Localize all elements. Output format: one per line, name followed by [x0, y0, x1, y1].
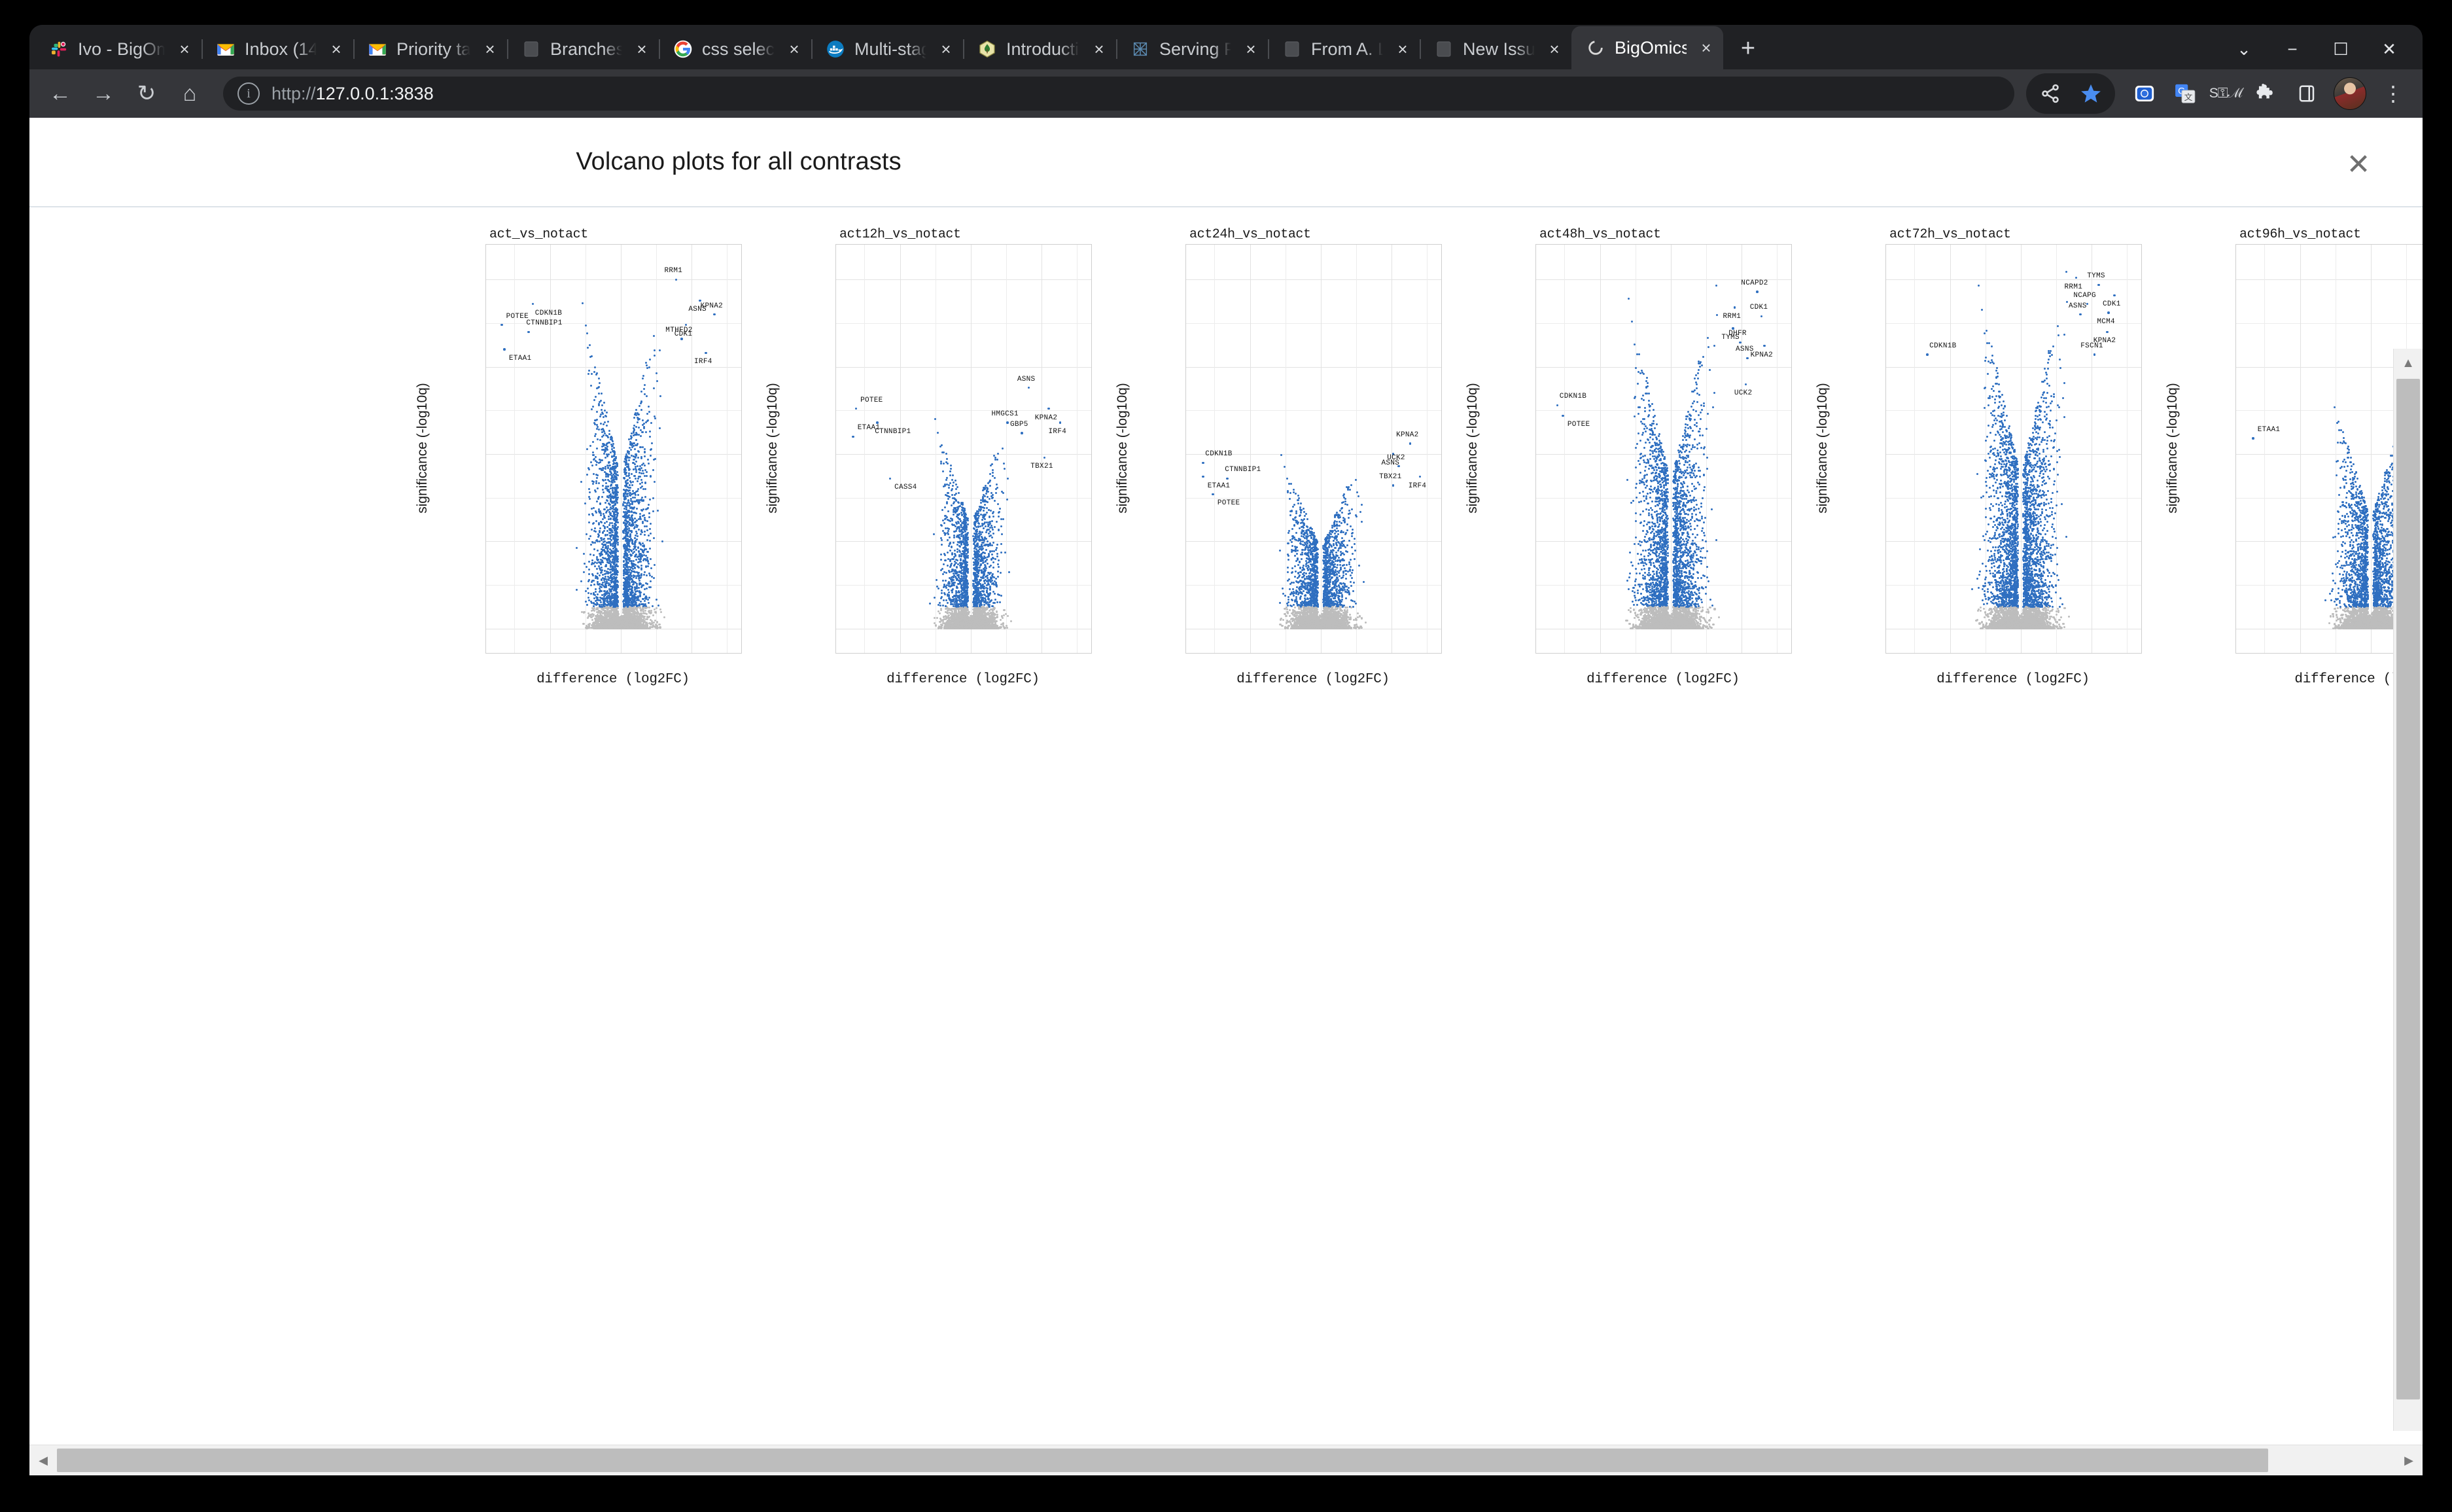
tab-separator [353, 39, 355, 59]
tab-close-icon[interactable]: × [629, 36, 655, 62]
tab-title: New Issue · [1463, 39, 1535, 60]
tab-strip: Ivo - BigOmi×Inbox (14) -×Priority task×… [29, 25, 2423, 69]
gridline-y-minor [1186, 498, 1441, 499]
gene-point [1732, 327, 1734, 330]
gene-point [1734, 306, 1736, 309]
tab-separator [507, 39, 508, 59]
x-axis-tick-mark [1392, 653, 1392, 654]
reload-icon[interactable]: ↻ [125, 72, 168, 115]
gridline-x [1671, 245, 1672, 653]
gene-point [527, 331, 530, 334]
vertical-scroll-thumb[interactable] [2396, 379, 2420, 1399]
tab-close-icon[interactable]: × [477, 36, 503, 62]
volcano-plot-4: act48h_vs_notactCDKN1BPOTEENCAPD2RRM1CDK… [1469, 214, 1819, 737]
y-axis-tick-mark [2235, 454, 2236, 455]
tab-title: Branches · b [550, 39, 622, 60]
x-axis-tick-mark [1042, 653, 1042, 654]
x-axis-tick-mark [1321, 653, 1322, 654]
tab-title: Introduction [1006, 39, 1079, 60]
extensions-puzzle-icon[interactable] [2246, 73, 2286, 114]
volcano-plot-6: act96h_vs_notactETAA10.02.55.07.510.0-50… [2169, 214, 2423, 737]
tab-title: BigOmics [1615, 38, 1687, 58]
y-axis-tick-mark [2235, 628, 2236, 629]
browser-window: Ivo - BigOmi×Inbox (14) -×Priority task×… [29, 25, 2423, 1475]
gridline-y-minor [1536, 323, 1791, 324]
gridline-x-minor [1914, 245, 1915, 653]
slack-icon [49, 39, 69, 59]
tab-separator [811, 39, 813, 59]
x-axis-tick-mark [692, 653, 692, 654]
gene-label: RRM1 [2065, 283, 2083, 291]
gene-label: CDKN1B [1205, 450, 1232, 458]
x-axis-tick-mark [900, 653, 901, 654]
gridline-x-minor [1706, 245, 1707, 653]
gene-label: RRM1 [665, 267, 683, 275]
gene-point [2106, 331, 2109, 334]
screen-recorder-icon[interactable] [2124, 73, 2165, 114]
gene-label: CASS4 [894, 483, 917, 491]
gene-label: MTHFD2 [665, 326, 692, 334]
gene-label: NCAPD2 [1741, 279, 1768, 287]
gene-point [2097, 284, 2100, 287]
gene-label: GBP5 [1010, 421, 1028, 429]
gridline-y [1886, 454, 2141, 455]
y-axis-tick-mark [1885, 541, 1886, 542]
gene-point [500, 324, 503, 326]
gene-label: ETAA1 [858, 424, 881, 432]
y-axis-label: significance (-log10q) [2165, 383, 2181, 514]
browser-tab-4[interactable]: Branches · b× [507, 29, 659, 69]
gene-label: FSCN1 [2080, 342, 2103, 350]
x-axis-label: difference (log2FC) [1586, 672, 1740, 687]
gridline-y [836, 454, 1091, 455]
gmail-icon [216, 39, 236, 59]
gene-point [1739, 342, 1742, 344]
browser-tab-6[interactable]: Multi-stage× [811, 29, 963, 69]
gene-label: HMGCS1 [991, 410, 1018, 418]
tab-close-icon[interactable]: × [933, 36, 959, 62]
gridline-x-minor [1777, 245, 1778, 653]
gene-label: MCM4 [2097, 318, 2115, 326]
generic-page-icon [1434, 39, 1454, 59]
browser-tab-11[interactable]: BigOmics× [1571, 26, 1723, 69]
browser-tab-2[interactable]: Inbox (14) -× [201, 29, 353, 69]
gene-point [680, 338, 683, 340]
gene-label: TYMS [2087, 272, 2105, 280]
y-axis-tick-mark [2235, 541, 2236, 542]
modal-body: act_vs_notactPOTEECDKN1BCTNNBIP1ETAA1RRM… [29, 207, 2423, 1426]
google-translate-icon[interactable]: G 文 [2165, 73, 2205, 114]
gene-point [713, 313, 716, 316]
x-axis-tick-mark [2021, 653, 2022, 654]
tab-close-icon[interactable]: × [1086, 36, 1112, 62]
plot-title: act12h_vs_notact [839, 227, 961, 242]
gridline-x [1321, 245, 1322, 653]
y-axis-tick-mark [485, 628, 486, 629]
gridline-x-minor [864, 245, 865, 653]
gene-point [1202, 462, 1204, 465]
gene-point [1756, 290, 1759, 293]
y-axis-tick-mark [1185, 541, 1186, 542]
y-axis-tick-mark [1535, 628, 1536, 629]
tab-close-icon[interactable]: × [1238, 36, 1264, 62]
gridline-y [486, 279, 741, 280]
gene-label: ASNS [2069, 302, 2087, 310]
close-window-button[interactable]: ✕ [2365, 29, 2413, 69]
x-axis-tick-mark [971, 653, 972, 654]
gene-point [675, 279, 678, 281]
new-tab-button[interactable]: + [1730, 30, 1766, 67]
gene-label: POTEE [1217, 499, 1240, 507]
bigomics-icon [1586, 38, 1605, 58]
gridline-x [1742, 245, 1742, 653]
y-axis-tick-mark [1885, 366, 1886, 367]
tab-title: css select pa [702, 39, 775, 60]
gene-label: KPNA2 [701, 302, 724, 310]
gridline-y [486, 367, 741, 368]
gridline-y-minor [486, 410, 741, 411]
gene-point [876, 421, 879, 424]
x-axis-tick-mark [2092, 653, 2092, 654]
gridline-y-minor [1186, 410, 1441, 411]
gene-label: CDK1 [1750, 304, 1768, 311]
gridline-y [836, 279, 1091, 280]
volcano-plot-2: act12h_vs_notactPOTEECTNNBIP1ETAA1CASS4A… [769, 214, 1119, 737]
gene-label: CDKN1B [1560, 393, 1586, 400]
side-panel-icon[interactable] [2286, 73, 2327, 114]
docker-icon [826, 39, 845, 59]
y-axis-tick-mark [835, 628, 836, 629]
volcano-plot-5: act72h_vs_notactCDKN1BRRM1TYMSCDK1NCAPGM… [1819, 214, 2169, 737]
gridline-x [621, 245, 622, 653]
gridline-x [1250, 245, 1251, 653]
minimize-button[interactable]: − [2268, 29, 2317, 69]
browser-tab-10[interactable]: New Issue ·× [1420, 29, 1571, 69]
gridline-y-minor [1536, 410, 1791, 411]
gene-point [2113, 294, 2116, 297]
gene-point [2075, 277, 2078, 279]
gridline-x [2092, 245, 2092, 653]
tab-title: Serving Pac [1159, 39, 1231, 60]
page-content: Volcano plots for all contrasts ✕ act_vs… [29, 118, 2423, 1475]
horizontal-scroll-thumb[interactable] [57, 1449, 2268, 1472]
tab-title: Inbox (14) - [245, 39, 317, 60]
y-axis-label: significance (-log10q) [765, 383, 780, 514]
y-axis-tick-mark [1185, 454, 1186, 455]
x-axis-tick-mark [621, 653, 622, 654]
gridline-x-minor [2127, 245, 2128, 653]
plot-title: act96h_vs_notact [2239, 227, 2361, 242]
gene-label: ETAA1 [2258, 426, 2281, 434]
gene-point [852, 436, 854, 438]
volcano-plot-1: act_vs_notactPOTEECDKN1BCTNNBIP1ETAA1RRM… [419, 214, 769, 737]
gene-point [503, 348, 506, 351]
gene-label: DHFR [1728, 330, 1747, 338]
gene-label: POTEE [860, 396, 883, 404]
gridline-x [2021, 245, 2022, 653]
url-scheme: http:// [271, 84, 316, 103]
tab-close-icon[interactable]: × [1693, 35, 1719, 61]
modal-title-wrap: Volcano plots for all contrasts [29, 148, 2423, 176]
gridline-y-minor [1886, 410, 2141, 411]
browser-tab-7[interactable]: Introduction× [963, 29, 1116, 69]
gene-label: RRM1 [1723, 313, 1742, 321]
tab-close-icon[interactable]: × [781, 36, 807, 62]
y-axis-tick-mark [835, 366, 836, 367]
browser-toolbar: ← → ↻ ⌂ i http://127.0.0.1:3838 [29, 69, 2423, 118]
y-axis-tick-mark [485, 279, 486, 280]
tab-close-icon[interactable]: × [1390, 36, 1416, 62]
gridline-x [900, 245, 901, 653]
gene-point [1562, 415, 1564, 417]
gene-point [1212, 493, 1214, 496]
gridline-x-minor [936, 245, 936, 653]
gene-point [1745, 383, 1747, 386]
gridline-y [1186, 279, 1441, 280]
gene-point [2252, 437, 2254, 440]
gene-point [1043, 457, 1046, 459]
gridline-x-minor [1214, 245, 1215, 653]
gridline-x [1042, 245, 1042, 653]
gene-label: UCK2 [1387, 454, 1405, 462]
gene-label: KPNA2 [1396, 431, 1419, 439]
google-icon [673, 39, 693, 59]
bookmark-star-icon[interactable] [2071, 73, 2111, 114]
gene-label: TBX21 [1030, 463, 1053, 470]
browser-tab-9[interactable]: From A. L. (× [1268, 29, 1420, 69]
gridline-x-minor [1564, 245, 1565, 653]
gene-label: UCK2 [1734, 389, 1753, 397]
gene-point [685, 324, 688, 326]
x-axis-label: difference (log2FC) [1236, 672, 1390, 687]
tab-separator [1420, 39, 1421, 59]
gene-point [1392, 484, 1395, 487]
tab-close-icon[interactable]: × [323, 36, 349, 62]
gridline-y-minor [836, 410, 1091, 411]
gridline-x-minor [2264, 245, 2265, 653]
gridline-x [550, 245, 551, 653]
gridline-x [2300, 245, 2301, 653]
share-bookmark-pill [2026, 73, 2115, 114]
y-axis-tick-mark [485, 541, 486, 542]
gmail-icon [368, 39, 387, 59]
vertical-scrollbar[interactable]: ▲ [2393, 349, 2423, 1431]
window-controls: ⌄−☐✕ [2220, 29, 2423, 69]
browser-tab-8[interactable]: Serving Pac× [1116, 29, 1268, 69]
x-axis-tick-mark [1950, 653, 1951, 654]
y-axis-tick-mark [1185, 279, 1186, 280]
scroll-up-arrow-icon[interactable]: ▲ [2394, 349, 2423, 378]
saml-tracer-icon[interactable]: S⚿ℳ [2205, 73, 2246, 114]
y-axis-tick-mark [1535, 454, 1536, 455]
back-icon[interactable]: ← [39, 72, 82, 115]
gridline-x-minor [1986, 245, 1986, 653]
gridline-x-minor [2336, 245, 2336, 653]
gene-point [1028, 387, 1030, 389]
y-axis-tick-mark [1885, 454, 1886, 455]
gene-point [1556, 404, 1559, 407]
close-icon[interactable]: ✕ [2340, 147, 2377, 183]
browser-tab-1[interactable]: Ivo - BigOmi× [35, 29, 201, 69]
plot-panel: CDKN1BRRM1TYMSCDK1NCAPGMCM4ASNSKPNA2FSCN… [1885, 244, 2142, 654]
tab-title: From A. L. ( [1311, 39, 1383, 60]
y-axis-tick-mark [1535, 541, 1536, 542]
gene-label: KPNA2 [1035, 414, 1058, 422]
gridline-y-minor [1186, 323, 1441, 324]
x-axis-tick-mark [1600, 653, 1601, 654]
scroll-left-arrow-icon[interactable]: ◀ [29, 1445, 57, 1475]
gene-label: IRF4 [1409, 482, 1427, 490]
tab-separator [963, 39, 964, 59]
volcano-plot-3: act24h_vs_notactCDKN1BETAA1CTNNBIP1POTEE… [1119, 214, 1469, 737]
gene-point [1047, 408, 1050, 410]
horizontal-scrollbar[interactable]: ◀ ▶ [29, 1445, 2423, 1475]
tab-separator [659, 39, 660, 59]
y-axis-tick-mark [1185, 628, 1186, 629]
x-axis-tick-mark [1671, 653, 1672, 654]
gridline-x-minor [727, 245, 727, 653]
y-axis-tick-mark [2235, 279, 2236, 280]
gene-point [1763, 345, 1766, 347]
gene-point [699, 300, 701, 302]
y-axis-tick-mark [835, 541, 836, 542]
browser-tab-3[interactable]: Priority task× [353, 29, 507, 69]
tab-title: Priority task [396, 39, 470, 60]
gene-label: IRF4 [1049, 428, 1067, 436]
browser-tab-5[interactable]: css select pa× [659, 29, 811, 69]
gene-point [855, 408, 858, 410]
plot-title: act72h_vs_notact [1889, 227, 2011, 242]
svg-text:文: 文 [2184, 92, 2193, 102]
gene-label: ASNS [1017, 376, 1036, 383]
y-axis-label: significance (-log10q) [415, 383, 430, 514]
x-axis-label: difference (log2FC) [886, 672, 1040, 687]
gene-point [1760, 315, 1763, 318]
url-host: 127.0.0.1:3838 [316, 84, 434, 103]
gene-label: CTNNBIP1 [526, 319, 562, 327]
forward-icon[interactable]: → [82, 72, 125, 115]
gene-point [1746, 357, 1749, 360]
maximize-button[interactable]: ☐ [2317, 29, 2365, 69]
gene-point [1409, 442, 1412, 445]
plot-title: act48h_vs_notact [1539, 227, 1661, 242]
gene-point [1021, 432, 1023, 434]
x-axis-label: difference (log2FC) [536, 672, 690, 687]
y-axis-tick-mark [2235, 366, 2236, 367]
gene-label: ETAA1 [1208, 482, 1231, 490]
gene-point [705, 352, 707, 355]
gene-label: ASNS [1736, 345, 1754, 353]
gene-point [1926, 353, 1929, 356]
gridline-y-minor [486, 323, 741, 324]
gridline-x-minor [656, 245, 657, 653]
generic-page-icon [521, 39, 541, 59]
address-bar-url: http://127.0.0.1:3838 [271, 84, 434, 104]
home-icon[interactable]: ⌂ [168, 72, 211, 115]
tab-search-button[interactable]: ⌄ [2220, 29, 2268, 69]
gene-label: CDKN1B [535, 309, 562, 317]
y-axis-tick-mark [1535, 279, 1536, 280]
tab-separator [201, 39, 203, 59]
gridline-x [1392, 245, 1392, 653]
gridline-x-minor [1286, 245, 1286, 653]
gene-label: IRF4 [694, 358, 712, 366]
volcano-plot-row: act_vs_notactPOTEECDKN1BCTNNBIP1ETAA1RRM… [419, 214, 2423, 737]
plot-title: act24h_vs_notact [1189, 227, 1311, 242]
gridline-x [1950, 245, 1951, 653]
x-axis-tick-mark [2371, 653, 2372, 654]
y-axis-tick-mark [1185, 366, 1186, 367]
x-axis-tick-mark [550, 653, 551, 654]
gridline-x-minor [1356, 245, 1357, 653]
gene-point [1226, 478, 1229, 480]
tab-title: Ivo - BigOmi [78, 39, 165, 60]
gene-label: TBX21 [1379, 473, 1402, 481]
gene-label: CDKN1B [1929, 342, 1956, 350]
share-icon[interactable] [2030, 73, 2071, 114]
gridline-x [971, 245, 972, 653]
x-axis-label: difference (log2FC) [1936, 672, 2090, 687]
x-axis-tick-mark [1250, 653, 1251, 654]
profile-avatar[interactable] [2334, 77, 2366, 110]
gridline-y [836, 367, 1091, 368]
x-axis-tick-mark [2300, 653, 2301, 654]
gene-point [1006, 421, 1009, 424]
y-axis-tick-mark [835, 454, 836, 455]
tab-close-icon[interactable]: × [171, 36, 198, 62]
tab-close-icon[interactable]: × [1541, 36, 1568, 62]
gene-point [889, 478, 892, 480]
gene-point [2093, 353, 2096, 356]
address-bar[interactable]: i http://127.0.0.1:3838 [223, 77, 2014, 111]
plot-panel: POTEECDKN1BCTNNBIP1ETAA1RRM1ASNSKPNA2CDK… [485, 244, 742, 654]
y-axis-tick-mark [485, 366, 486, 367]
y-axis-label: significance (-log10q) [1115, 383, 1130, 514]
chrome-menu-icon[interactable]: ⋮ [2373, 73, 2413, 114]
horizontal-scroll-track[interactable] [57, 1445, 2395, 1475]
gridline-y-minor [836, 498, 1091, 499]
gridline-x [2371, 245, 2372, 653]
scroll-right-arrow-icon[interactable]: ▶ [2395, 1445, 2423, 1475]
gene-label: POTEE [1568, 421, 1590, 429]
y-axis-label: significance (-log10q) [1465, 383, 1480, 514]
page-title: Volcano plots for all contrasts [576, 148, 901, 176]
gene-point [532, 303, 534, 306]
tab-title: Multi-stage [854, 39, 926, 60]
y-axis-tick-mark [835, 279, 836, 280]
plot-panel: CDKN1BPOTEENCAPD2RRM1CDK1TYMSDHFRKPNA2AS… [1535, 244, 1792, 654]
site-info-icon[interactable]: i [237, 82, 260, 105]
generic-page-icon [1282, 39, 1302, 59]
y-axis-tick-mark [485, 454, 486, 455]
tensorflow-icon [1130, 39, 1150, 59]
gene-label: NCAPG [2073, 292, 2096, 300]
tab-separator [1268, 39, 1269, 59]
gridline-x-minor [1427, 245, 1427, 653]
gridline-y [1536, 454, 1791, 455]
gridline-x [1600, 245, 1601, 653]
gridline-y [1186, 367, 1441, 368]
y-axis-tick-mark [1885, 628, 1886, 629]
gridline-x-minor [514, 245, 515, 653]
y-axis-tick-mark [1535, 366, 1536, 367]
gene-label: CTNNBIP1 [1225, 466, 1261, 474]
plot-title: act_vs_notact [489, 227, 588, 242]
gene-label: CDK1 [2103, 300, 2121, 308]
gridline-y-minor [836, 323, 1091, 324]
gene-point [2079, 313, 2082, 316]
modal-header: Volcano plots for all contrasts ✕ [29, 118, 2423, 207]
